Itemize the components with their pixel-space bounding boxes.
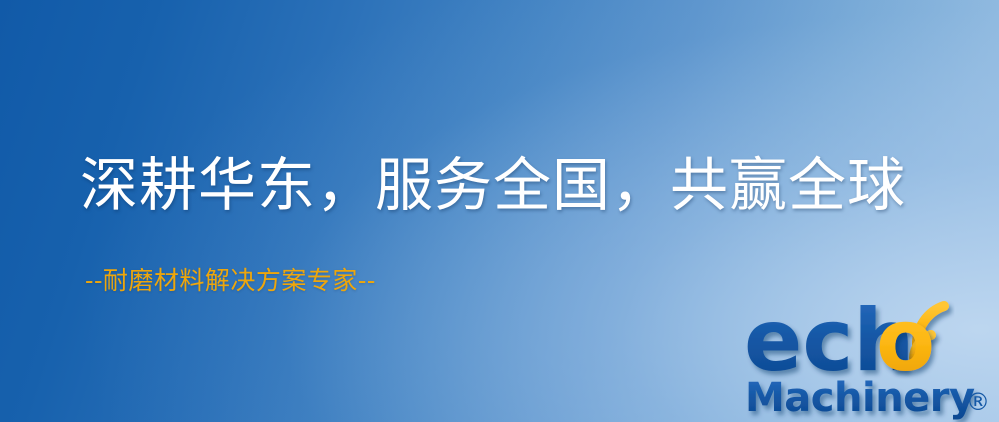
logo-subtext: Machinery: [745, 375, 975, 421]
trademark-symbol: ®: [966, 388, 990, 416]
page-title: 深耕华东，服务全国，共赢全球: [80, 148, 906, 222]
company-logo[interactable]: ech o Machinery ®: [744, 296, 999, 422]
hero-banner: 深耕华东，服务全国，共赢全球 --耐磨材料解决方案专家--: [0, 0, 999, 422]
page-subtitle: --耐磨材料解决方案专家--: [85, 264, 376, 298]
